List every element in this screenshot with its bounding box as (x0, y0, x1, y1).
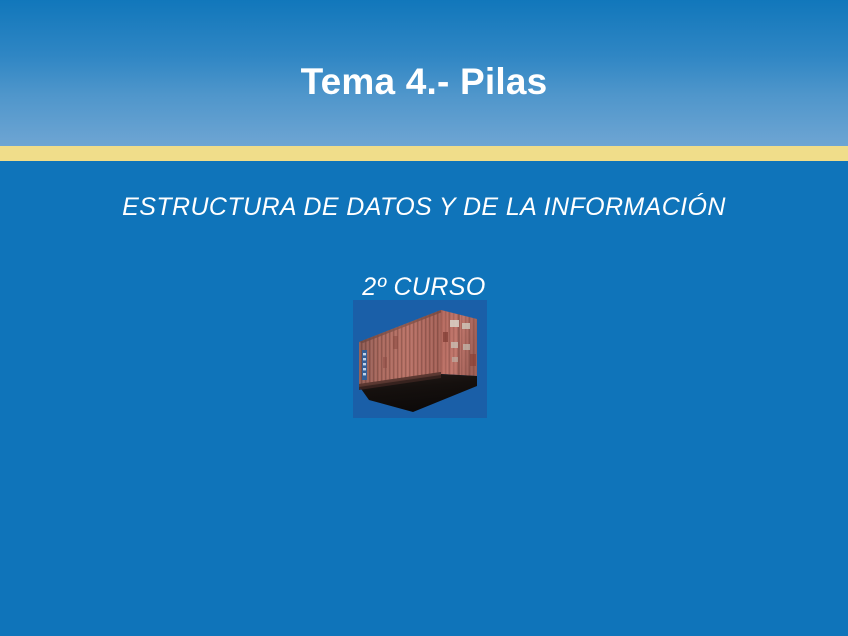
page-title: Tema 4.- Pilas (0, 0, 848, 146)
shipping-container-icon (353, 300, 487, 418)
divider-rule (0, 146, 848, 161)
course-text: 2º CURSO (0, 273, 848, 302)
shipping-container-image (353, 300, 487, 418)
presentation-slide: Tema 4.- Pilas ESTRUCTURA DE DATOS Y DE … (0, 0, 848, 636)
slide-body: ESTRUCTURA DE DATOS Y DE LA INFORMACIÓN … (0, 161, 848, 636)
subtitle-text: ESTRUCTURA DE DATOS Y DE LA INFORMACIÓN (0, 193, 848, 222)
